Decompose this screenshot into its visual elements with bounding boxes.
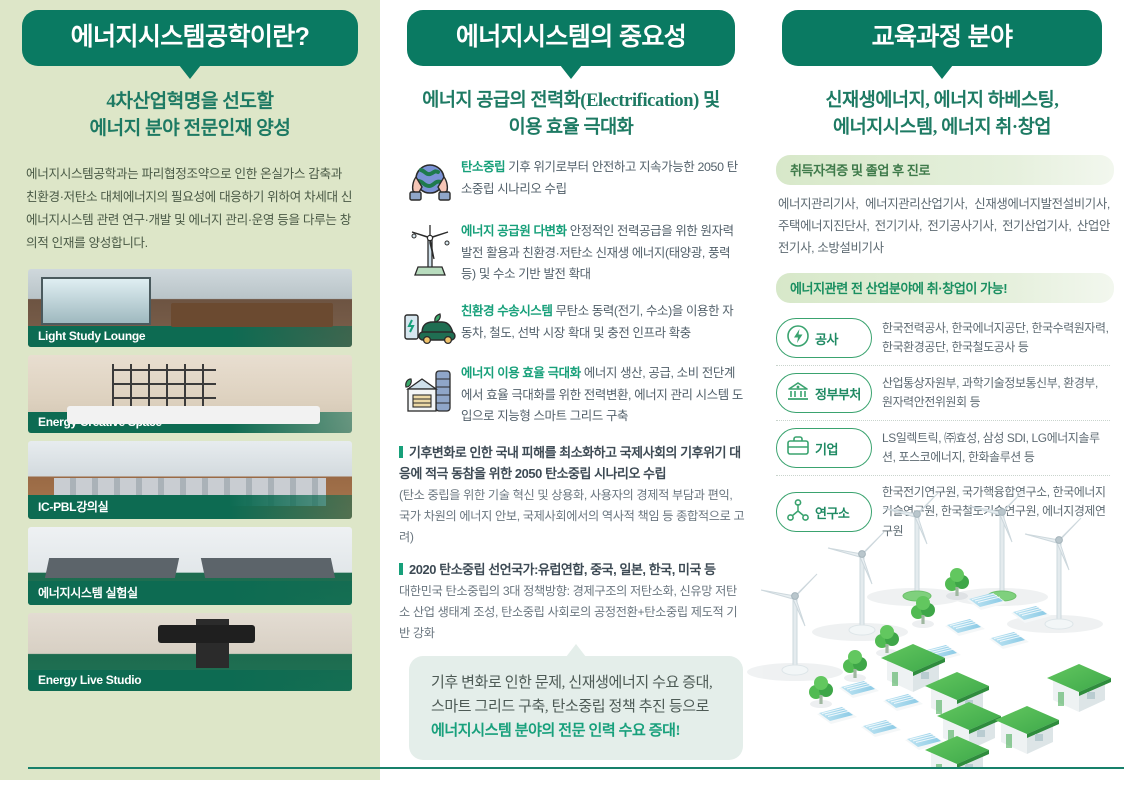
photo-caption: 에너지시스템 실험실 — [28, 581, 352, 605]
bullet-block: 기후변화로 인한 국내 피해를 최소화하고 국제사회의 기후위기 대응에 적극 … — [399, 443, 745, 547]
middle-column: 에너지시스템의 중요성 에너지 공급의 전력화(Electrification)… — [385, 0, 757, 760]
left-banner-wrap: 에너지시스템공학이란? — [0, 0, 380, 66]
middle-subtitle-line1: 에너지 공급의 전력화(Electrification) 및 — [399, 88, 743, 115]
bullet-heading: 2020 탄소중립 선언국가:유럽연합, 중국, 일본, 한국, 미국 등 — [399, 560, 745, 581]
photo-caption: Energy Creative Space — [28, 412, 352, 433]
icpbl-classroom-photo: IC-PBL강의실 — [28, 441, 352, 519]
photo-caption: Energy Live Studio — [28, 670, 352, 691]
callout-line-3: 에너지시스템 분야의 전문 인력 수요 증대! — [431, 720, 729, 744]
hands-holding-earth-icon — [399, 157, 461, 205]
callout-line-2: 스마트 그리드 구축, 탄소중립 정책 추진 등으로 — [431, 696, 729, 720]
importance-item: 친환경 수송시스템 무탄소 동력(전기, 수소)을 이용한 자동차, 철도, 선… — [399, 301, 745, 347]
bullet-block: 2020 탄소중립 선언국가:유럽연합, 중국, 일본, 한국, 미국 등 대한… — [399, 560, 745, 643]
left-lead-paragraph: 에너지시스템공학과는 파리협정조약으로 인한 온실가스 감축과 친환경·저탄소 … — [26, 163, 354, 255]
right-subtitle: 신재생에너지, 에너지 하베스팅, 에너지시스템, 에너지 취·창업 — [774, 88, 1110, 142]
category-organizations: LS일렉트릭, ㈜효성, 삼성 SDI, LG에너지솔루션, 포스코에너지, 한… — [872, 429, 1110, 468]
left-banner-title: 에너지시스템공학이란? — [32, 23, 348, 52]
left-subtitle-line1: 4차산업혁명을 선도할 — [14, 88, 366, 116]
demand-callout: 기후 변화로 인한 문제, 신재생에너지 수요 증대, 스마트 그리드 구축, … — [409, 656, 743, 759]
bullet-body: (탄소 중립을 위한 기술 혁신 및 상용화, 사용자의 경제적 부담과 편익,… — [399, 485, 745, 547]
employment-pill: 에너지관련 전 산업분야에 취·창업이 가능! — [776, 273, 1114, 303]
middle-banner: 에너지시스템의 중요성 — [407, 10, 735, 66]
right-subtitle-line1: 신재생에너지, 에너지 하베스팅, — [774, 88, 1110, 115]
category-label: 공사 — [815, 329, 838, 348]
energy-plant-icon — [399, 363, 461, 415]
right-banner-wrap: 교육과정 분야 — [760, 0, 1124, 66]
category-chip: 정부부처 — [776, 373, 872, 413]
callout-line-1: 기후 변화로 인한 문제, 신재생에너지 수요 증대, — [431, 672, 729, 696]
left-subtitle-line2: 에너지 분야 전문인재 양성 — [14, 115, 366, 143]
energy-lab-photo: 에너지시스템 실험실 — [28, 527, 352, 605]
importance-item: 에너지 이용 효율 극대화 에너지 생산, 공급, 소비 전단계에서 효율 극대… — [399, 363, 745, 427]
bullet-bar-icon — [399, 563, 403, 575]
middle-subtitle-line2: 이용 효율 극대화 — [399, 115, 743, 142]
middle-banner-title: 에너지시스템의 중요성 — [417, 23, 725, 52]
certifications-text: 에너지관리기사, 에너지관리산업기사, 신재생에너지발전설비기사, 주택에너지진… — [778, 194, 1110, 259]
right-column: 교육과정 분야 신재생에너지, 에너지 하베스팅, 에너지시스템, 에너지 취·… — [760, 0, 1124, 548]
bottom-divider-rule — [28, 767, 1124, 769]
employment-category-row: 정부부처 산업통상자원부, 과학기술정보통신부, 환경부, 원자력안전위원회 등 — [776, 366, 1110, 421]
creative-space-photo: Energy Creative Space — [28, 355, 352, 433]
importance-item-text: 친환경 수송시스템 무탄소 동력(전기, 수소)을 이용한 자동차, 철도, 선… — [461, 301, 745, 344]
employment-category-row: 공사 한국전력공사, 한국에너지공단, 한국수력원자력, 한국환경공단, 한국철… — [776, 311, 1110, 366]
facility-photo-list: Light Study Lounge Energy Creative Space… — [28, 269, 352, 691]
importance-item-term: 친환경 수송시스템 — [461, 304, 553, 318]
category-organizations: 산업통상자원부, 과학기술정보통신부, 환경부, 원자력안전위원회 등 — [872, 374, 1110, 413]
category-label: 정부부처 — [815, 384, 861, 403]
briefcase-icon — [785, 433, 811, 464]
study-lounge-photo: Light Study Lounge — [28, 269, 352, 347]
right-subtitle-line2: 에너지시스템, 에너지 취·창업 — [774, 115, 1110, 142]
category-label: 기업 — [815, 439, 838, 458]
importance-item-term: 에너지 공급원 다변화 — [461, 224, 567, 238]
brochure-page: 에너지시스템공학이란? 4차산업혁명을 선도할 에너지 분야 전문인재 양성 에… — [0, 0, 1124, 793]
right-banner-title: 교육과정 분야 — [792, 23, 1092, 52]
category-chip: 기업 — [776, 428, 872, 468]
bullet-heading-text: 2020 탄소중립 선언국가:유럽연합, 중국, 일본, 한국, 미국 등 — [409, 562, 716, 577]
bullet-body: 대한민국 탄소중립의 3대 정책방향: 경제구조의 저탄소화, 신유망 저탄소 … — [399, 581, 745, 643]
ev-charging-car-icon — [399, 301, 461, 347]
importance-item-text: 에너지 공급원 다변화 안정적인 전력공급을 위한 원자력 발전 활용과 친환경… — [461, 221, 745, 285]
middle-subtitle: 에너지 공급의 전력화(Electrification) 및 이용 효율 극대화 — [399, 88, 743, 142]
bullet-heading: 기후변화로 인한 국내 피해를 최소화하고 국제사회의 기후위기 대응에 적극 … — [399, 443, 745, 485]
employment-category-row: 기업 LS일렉트릭, ㈜효성, 삼성 SDI, LG에너지솔루션, 포스코에너지… — [776, 421, 1110, 476]
carbon-neutral-bullets: 기후변화로 인한 국내 피해를 최소화하고 국제사회의 기후위기 대응에 적극 … — [399, 443, 745, 643]
importance-item-text: 에너지 이용 효율 극대화 에너지 생산, 공급, 소비 전단계에서 효율 극대… — [461, 363, 745, 427]
importance-item-term: 에너지 이용 효율 극대화 — [461, 366, 581, 380]
photo-caption: IC-PBL강의실 — [28, 495, 352, 519]
middle-banner-wrap: 에너지시스템의 중요성 — [385, 0, 757, 66]
live-studio-photo: Energy Live Studio — [28, 613, 352, 691]
government-building-icon — [785, 378, 811, 409]
category-chip: 공사 — [776, 318, 872, 358]
left-banner: 에너지시스템공학이란? — [22, 10, 358, 66]
renewable-energy-village-illustration — [735, 492, 1124, 767]
importance-item: 탄소중립 기후 위기로부터 안전하고 지속가능한 2050 탄소중립 시나리오 … — [399, 157, 745, 205]
certifications-pill: 취득자격증 및 졸업 후 진로 — [776, 155, 1114, 185]
right-banner: 교육과정 분야 — [782, 10, 1102, 66]
bullet-heading-text: 기후변화로 인한 국내 피해를 최소화하고 국제사회의 기후위기 대응에 적극 … — [399, 445, 741, 481]
left-subtitle: 4차산업혁명을 선도할 에너지 분야 전문인재 양성 — [14, 88, 366, 143]
importance-item-text: 탄소중립 기후 위기로부터 안전하고 지속가능한 2050 탄소중립 시나리오 … — [461, 157, 745, 200]
importance-item-term: 탄소중립 — [461, 160, 505, 174]
left-column: 에너지시스템공학이란? 4차산업혁명을 선도할 에너지 분야 전문인재 양성 에… — [0, 0, 380, 699]
wind-turbine-icon — [399, 221, 461, 277]
category-organizations: 한국전력공사, 한국에너지공단, 한국수력원자력, 한국환경공단, 한국철도공사… — [872, 319, 1110, 358]
importance-item: 에너지 공급원 다변화 안정적인 전력공급을 위한 원자력 발전 활용과 친환경… — [399, 221, 745, 285]
photo-caption: Light Study Lounge — [28, 326, 352, 347]
lightning-bolt-icon — [785, 323, 811, 354]
importance-item-list: 탄소중립 기후 위기로부터 안전하고 지속가능한 2050 탄소중립 시나리오 … — [399, 157, 745, 427]
bullet-bar-icon — [399, 446, 403, 458]
